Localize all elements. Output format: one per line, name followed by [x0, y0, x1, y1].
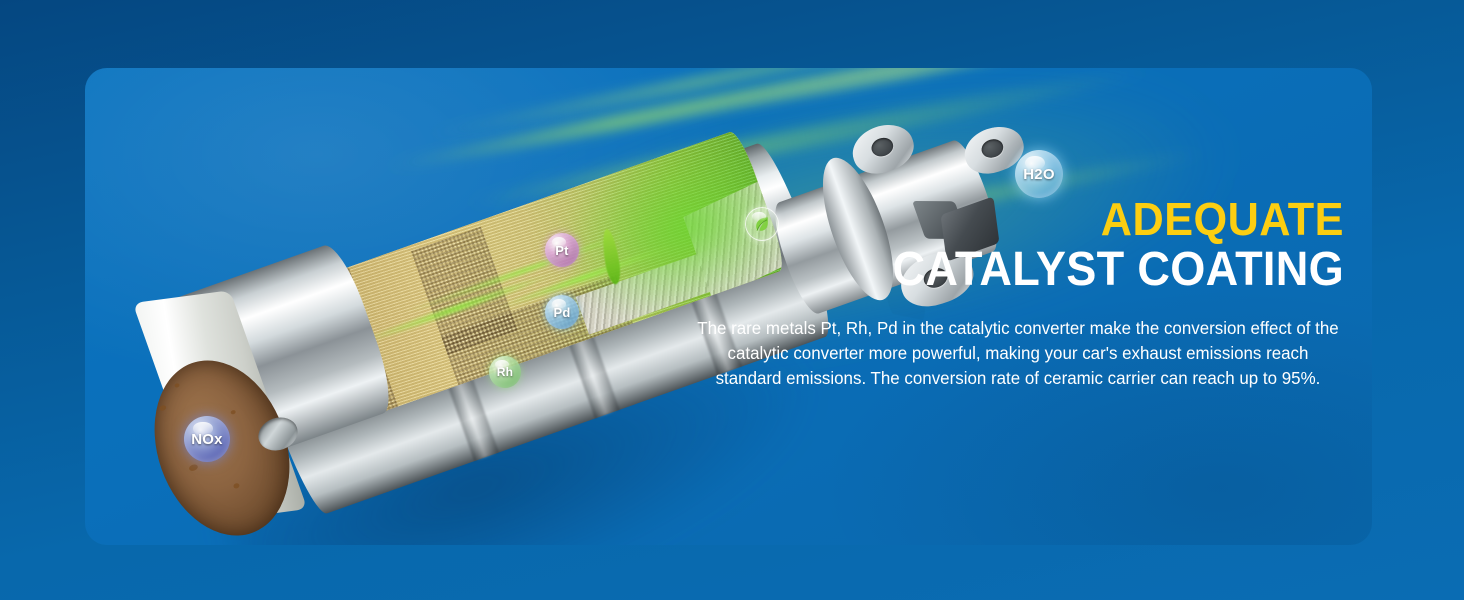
badge-nitrogen-oxides-label: NOx [191, 431, 222, 448]
badge-platinum: Pt [545, 233, 579, 267]
mounting-bolt-hole [869, 135, 896, 159]
mounting-bolt-hole [979, 136, 1006, 160]
soot-speck [188, 463, 198, 472]
soot-speck [233, 482, 240, 489]
badge-rhodium: Rh [489, 356, 521, 388]
copy-block: ADEQUATE CATALYST COATING The rare metal… [684, 196, 1344, 391]
body-paragraph: The rare metals Pt, Rh, Pd in the cataly… [694, 316, 1344, 391]
soot-speck [174, 383, 180, 388]
badge-palladium-label: Pd [553, 305, 570, 320]
feature-card: Pt Pd Rh H2O NOx ADEQUATE CATALYST COATI… [85, 68, 1372, 545]
badge-platinum-label: Pt [555, 243, 568, 258]
badge-water-vapour: H2O [1015, 150, 1063, 198]
headline-primary: ADEQUATE [724, 196, 1344, 243]
badge-palladium: Pd [545, 295, 579, 329]
headline-secondary: CATALYST COATING [724, 245, 1344, 296]
badge-water-vapour-label: H2O [1023, 166, 1054, 183]
badge-nitrogen-oxides: NOx [184, 416, 230, 462]
badge-rhodium-label: Rh [497, 365, 513, 379]
soot-speck [159, 404, 167, 411]
soot-speck [230, 409, 236, 414]
